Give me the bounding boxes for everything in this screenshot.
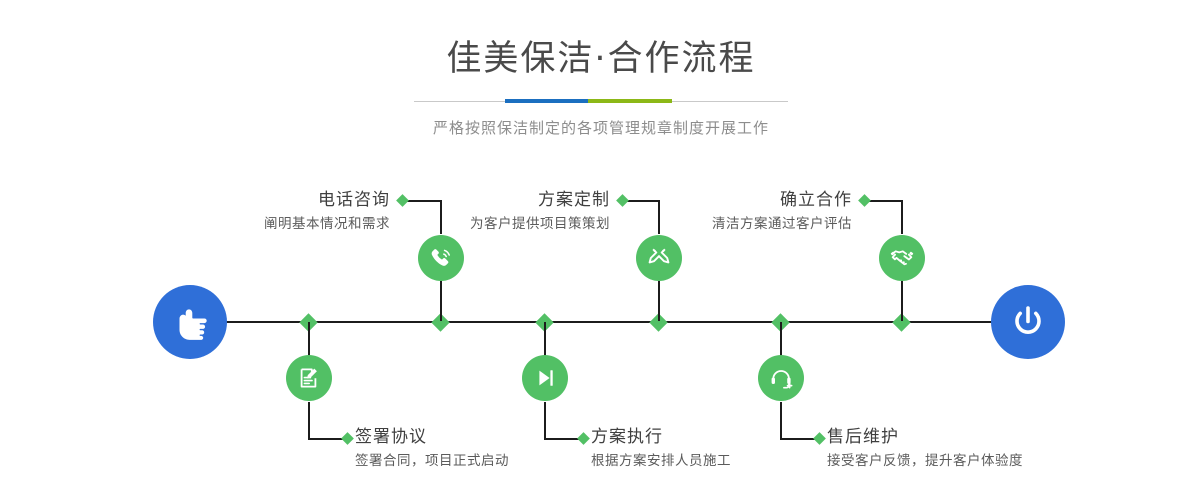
power-icon (1007, 301, 1049, 343)
label-connector-vertical-lower-3 (780, 402, 782, 439)
label-connector-vertical-lower-2 (544, 402, 546, 439)
step-desc: 阐明基本情况和需求 (152, 215, 390, 233)
pointing-hand-icon (170, 302, 210, 342)
connector-stem-lower-3 (780, 322, 782, 356)
step-node-after-sales[interactable] (758, 355, 804, 401)
label-tip-marker-upper-3 (858, 194, 871, 207)
connector-stem-upper-3 (901, 281, 903, 321)
process-flow-infographic: 佳美保洁·合作流程 严格按照保洁制定的各项管理规章制度开展工作 (0, 0, 1202, 502)
label-connector-vertical-upper-3 (901, 200, 903, 234)
divider-segment-green (588, 99, 672, 103)
pencil-ruler-icon (645, 244, 673, 272)
step-label-phone-call: 电话咨询 阐明基本情况和需求 (152, 190, 390, 233)
step-title: 售后维护 (827, 427, 1117, 447)
customer-service-add-icon (767, 364, 795, 392)
step-label-execute-plan: 方案执行 根据方案安排人员施工 (591, 427, 841, 470)
connector-stem-upper-2 (658, 281, 660, 321)
step-desc: 根据方案安排人员施工 (591, 452, 841, 470)
header: 佳美保洁·合作流程 严格按照保洁制定的各项管理规章制度开展工作 (0, 0, 1202, 138)
skip-forward-icon (531, 364, 559, 392)
handshake-icon (888, 244, 916, 272)
connector-stem-lower-2 (544, 322, 546, 356)
title-divider (414, 99, 788, 103)
step-title: 确立合作 (608, 190, 852, 210)
step-node-execute-plan[interactable] (522, 355, 568, 401)
step-desc: 清洁方案通过客户评估 (608, 215, 852, 233)
flow-end-badge (991, 285, 1065, 359)
step-node-phone-call[interactable] (418, 235, 464, 281)
step-label-partnership: 确立合作 清洁方案通过客户评估 (608, 190, 852, 233)
step-title: 方案执行 (591, 427, 841, 447)
step-node-partnership[interactable] (879, 235, 925, 281)
divider-segment-blue (505, 99, 588, 103)
step-label-after-sales: 售后维护 接受客户反馈，提升客户体验度 (827, 427, 1117, 470)
label-tip-marker-lower-1 (341, 432, 354, 445)
step-desc: 签署合同，项目正式启动 (355, 452, 605, 470)
step-desc: 为客户提供项目策策划 (372, 215, 610, 233)
step-title: 电话咨询 (152, 190, 390, 210)
step-node-sign-agreement[interactable] (286, 355, 332, 401)
step-label-plan-design: 方案定制 为客户提供项目策策划 (372, 190, 610, 233)
step-desc: 接受客户反馈，提升客户体验度 (827, 452, 1117, 470)
page-title: 佳美保洁·合作流程 (0, 42, 1202, 77)
phone-call-icon (427, 244, 455, 272)
document-sign-icon (295, 364, 323, 392)
step-node-plan-design[interactable] (636, 235, 682, 281)
page-subtitle: 严格按照保洁制定的各项管理规章制度开展工作 (0, 117, 1202, 138)
connector-stem-lower-1 (308, 322, 310, 356)
flow-start-badge (153, 285, 227, 359)
label-connector-vertical-lower-1 (308, 402, 310, 439)
connector-stem-upper-1 (440, 281, 442, 321)
step-title: 签署协议 (355, 427, 605, 447)
step-title: 方案定制 (372, 190, 610, 210)
step-label-sign-agreement: 签署协议 签署合同，项目正式启动 (355, 427, 605, 470)
